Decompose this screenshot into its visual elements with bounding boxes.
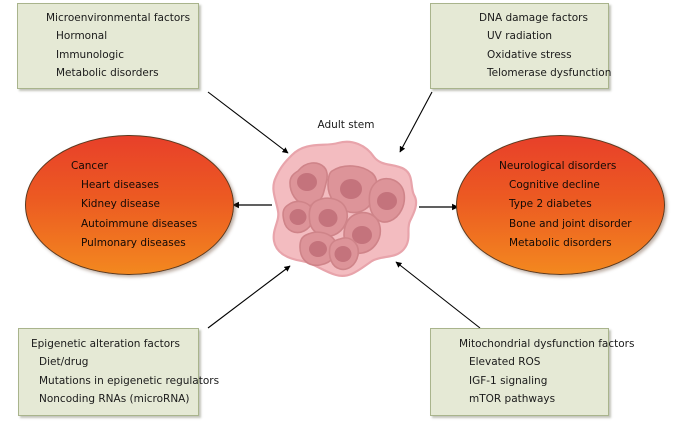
adult-stem-cell-cluster <box>262 133 430 285</box>
outcome-item: Pulmonary diseases <box>81 238 233 249</box>
factor-item: Immunologic <box>56 50 198 61</box>
outcome-title: Neurological disorders <box>499 161 664 172</box>
factor-item: Elevated ROS <box>469 357 608 368</box>
outcome-item: Metabolic disorders <box>509 238 664 249</box>
factor-item: Metabolic disorders <box>56 68 198 79</box>
nucleus <box>352 226 372 244</box>
factor-title: Microenvironmental factors <box>46 13 198 24</box>
nucleus <box>309 241 327 257</box>
factor-item: Noncoding RNAs (microRNA) <box>39 394 198 405</box>
nucleus <box>290 209 307 225</box>
outcome-ellipse-cancer[interactable]: Cancer Heart diseases Kidney disease Aut… <box>25 135 234 275</box>
factor-title: Epigenetic alteration factors <box>31 339 198 350</box>
outcome-item: Kidney disease <box>81 199 233 210</box>
stem-cell <box>309 198 347 236</box>
diagram-canvas: Microenvironmental factors Hormonal Immu… <box>0 0 687 424</box>
nucleus <box>340 179 362 199</box>
factor-item: Oxidative stress <box>487 50 608 61</box>
factor-item: Hormonal <box>56 31 198 42</box>
outcome-item: Bone and joint disorder <box>509 219 664 230</box>
factor-item: IGF-1 signaling <box>469 376 608 387</box>
outcome-item: Heart diseases <box>81 180 233 191</box>
nucleus <box>335 246 352 262</box>
nucleus <box>319 209 338 227</box>
factor-box-mitochondrial[interactable]: Mitochondrial dysfunction factors Elevat… <box>430 328 609 416</box>
factor-title: Mitochondrial dysfunction factors <box>459 339 608 350</box>
outcome-ellipse-neurological[interactable]: Neurological disorders Cognitive decline… <box>456 135 665 275</box>
outcome-item: Autoimmune diseases <box>81 219 233 230</box>
factor-item: Mutations in epigenetic regulators <box>39 376 198 387</box>
factor-item: UV radiation <box>487 31 608 42</box>
nucleus <box>297 173 317 191</box>
factor-item: Telomerase dysfunction <box>487 68 608 79</box>
outcome-item: Type 2 diabetes <box>509 199 664 210</box>
outcome-title: Cancer <box>71 161 233 172</box>
stem-cell <box>329 238 358 269</box>
factor-item: mTOR pathways <box>469 394 608 405</box>
factor-box-epigenetic[interactable]: Epigenetic alteration factors Diet/drug … <box>18 328 199 416</box>
factor-item: Diet/drug <box>39 357 198 368</box>
adult-stem-cell-label: Adult stem <box>296 119 396 131</box>
factor-title: DNA damage factors <box>479 13 608 24</box>
factor-box-microenvironmental[interactable]: Microenvironmental factors Hormonal Immu… <box>17 3 199 89</box>
outcome-item: Cognitive decline <box>509 180 664 191</box>
nucleus <box>377 192 397 210</box>
factor-box-dna-damage[interactable]: DNA damage factors UV radiation Oxidativ… <box>430 3 609 89</box>
